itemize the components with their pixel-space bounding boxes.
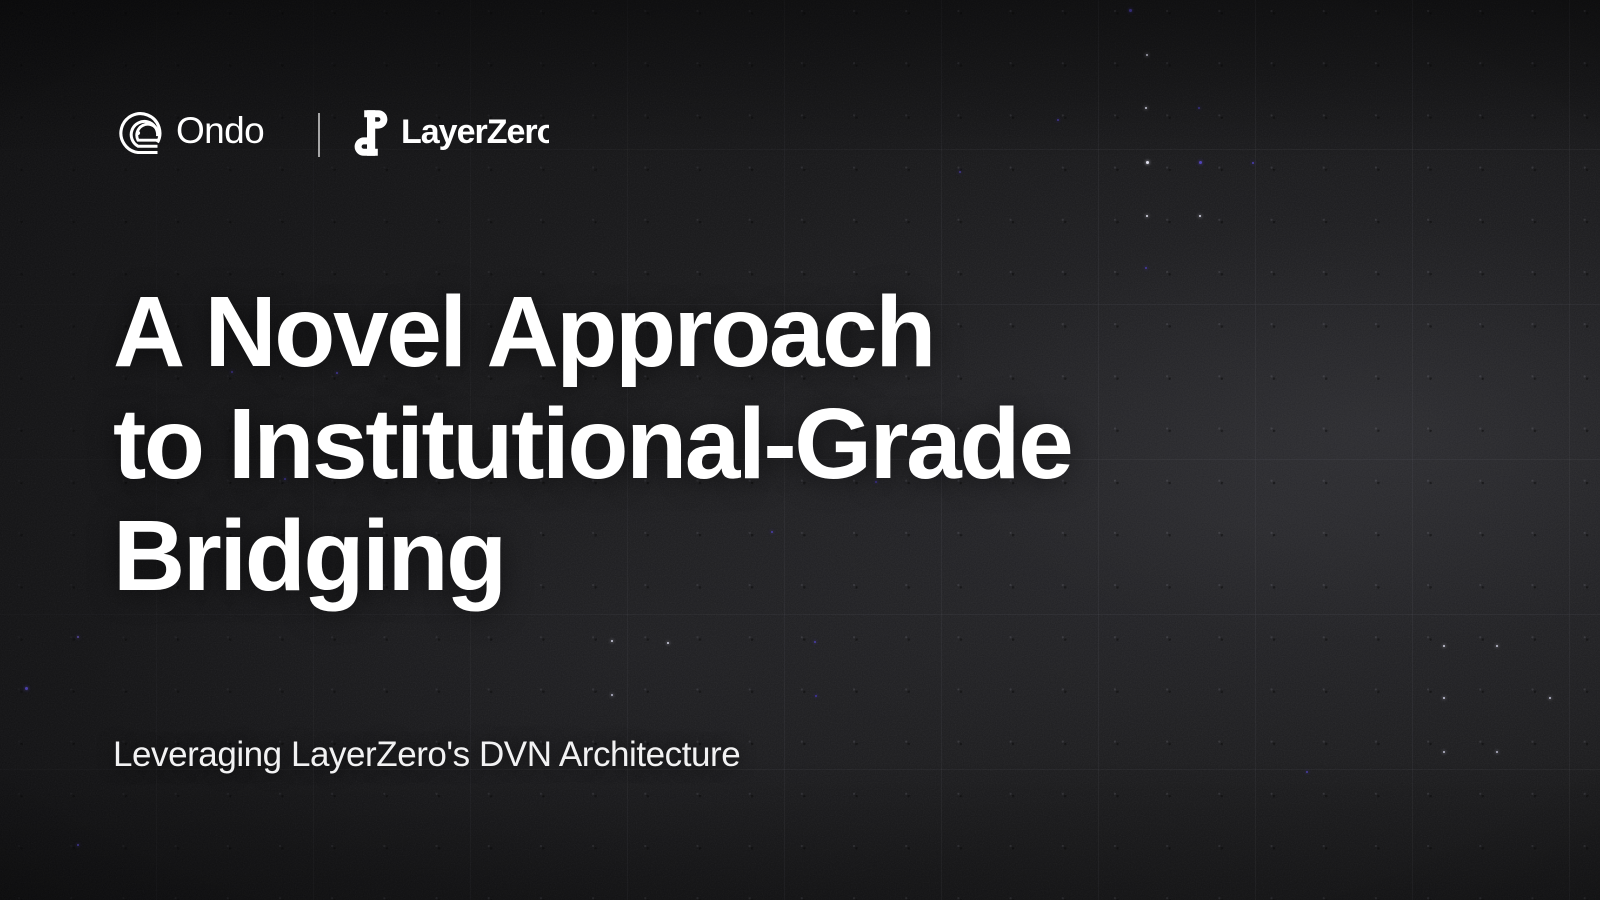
ondo-wordmark-text: Ondo (176, 113, 264, 151)
headline-line-2: to Institutional-Grade (113, 388, 1071, 500)
logo-bar: Ondo LayerZero. (113, 107, 549, 163)
presentation-slide: Ondo LayerZero. (0, 0, 1600, 900)
layerzero-glyph-icon (354, 108, 388, 163)
brand-ondo: Ondo (113, 108, 280, 163)
ondo-concentric-arcs-icon (113, 108, 163, 163)
brand-layerzero: LayerZero. (354, 108, 549, 163)
headline-line-3: Bridging (113, 500, 1071, 612)
layerzero-wordmark: LayerZero. (401, 113, 549, 158)
slide-content: Ondo LayerZero. (0, 0, 1600, 900)
logo-divider (318, 113, 320, 157)
subtitle: Leveraging LayerZero's DVN Architecture (113, 733, 740, 777)
headline: A Novel Approach to Institutional-Grade … (113, 276, 1071, 612)
layerzero-wordmark-text: LayerZero. (401, 113, 549, 151)
ondo-wordmark: Ondo (176, 113, 280, 158)
headline-line-1: A Novel Approach (113, 276, 1071, 388)
